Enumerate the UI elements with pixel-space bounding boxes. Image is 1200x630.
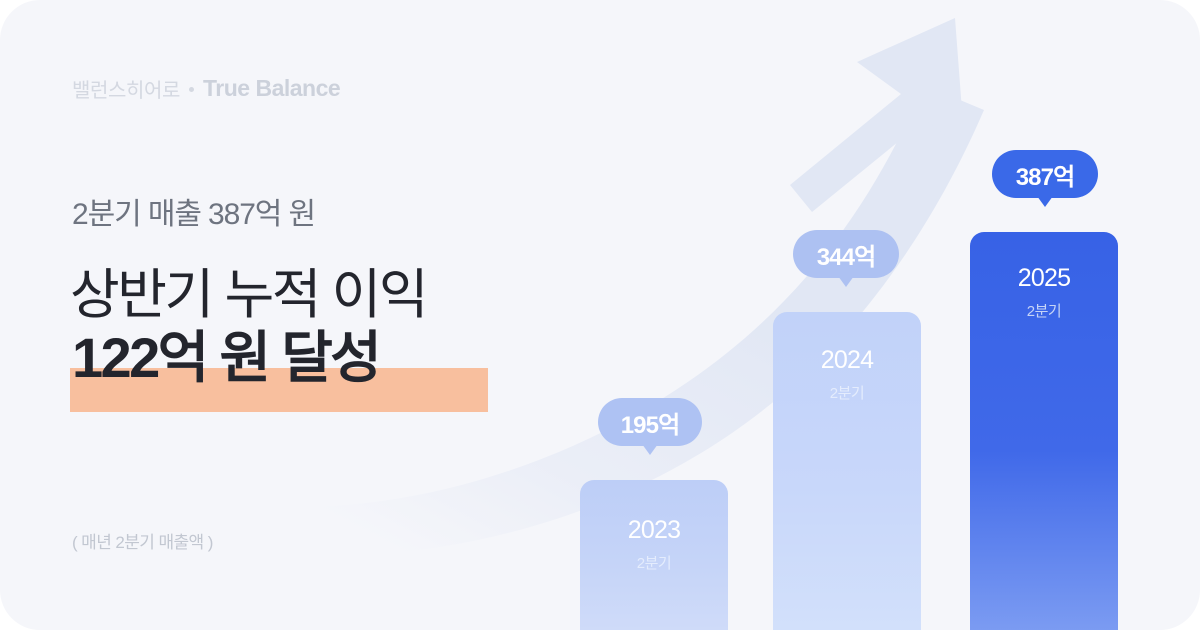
bar-2023[interactable]: 2023 2분기 <box>580 480 728 630</box>
bar-value-bubble-2025[interactable]: 387억 <box>992 150 1098 198</box>
bar-year-label: 2025 <box>970 264 1118 293</box>
bar-2025[interactable]: 2025 2분기 <box>970 232 1118 630</box>
bar-chart: 2023 2분기 195억 2024 2분기 344억 2025 2분기 387… <box>0 0 1200 630</box>
bar-year-label: 2023 <box>580 516 728 545</box>
bubble-value-label: 344억 <box>817 237 876 272</box>
bubble-value-label: 195억 <box>621 405 680 440</box>
bar-quarter-label: 2분기 <box>970 300 1118 321</box>
bar-quarter-label: 2분기 <box>580 552 728 573</box>
bar-year-label: 2024 <box>773 346 921 375</box>
bar-value-bubble-2023[interactable]: 195억 <box>598 398 702 446</box>
bubble-tail-icon <box>838 276 854 287</box>
bar-value-bubble-2024[interactable]: 344억 <box>793 230 899 278</box>
bubble-tail-icon <box>642 444 658 455</box>
bubble-value-label: 387억 <box>1016 157 1075 192</box>
bar-quarter-label: 2분기 <box>773 382 921 403</box>
poster-canvas: 밸런스히어로 True Balance 2분기 매출 387억 원 상반기 누적… <box>0 0 1200 630</box>
bar-2024[interactable]: 2024 2분기 <box>773 312 921 630</box>
bubble-tail-icon <box>1037 196 1053 207</box>
